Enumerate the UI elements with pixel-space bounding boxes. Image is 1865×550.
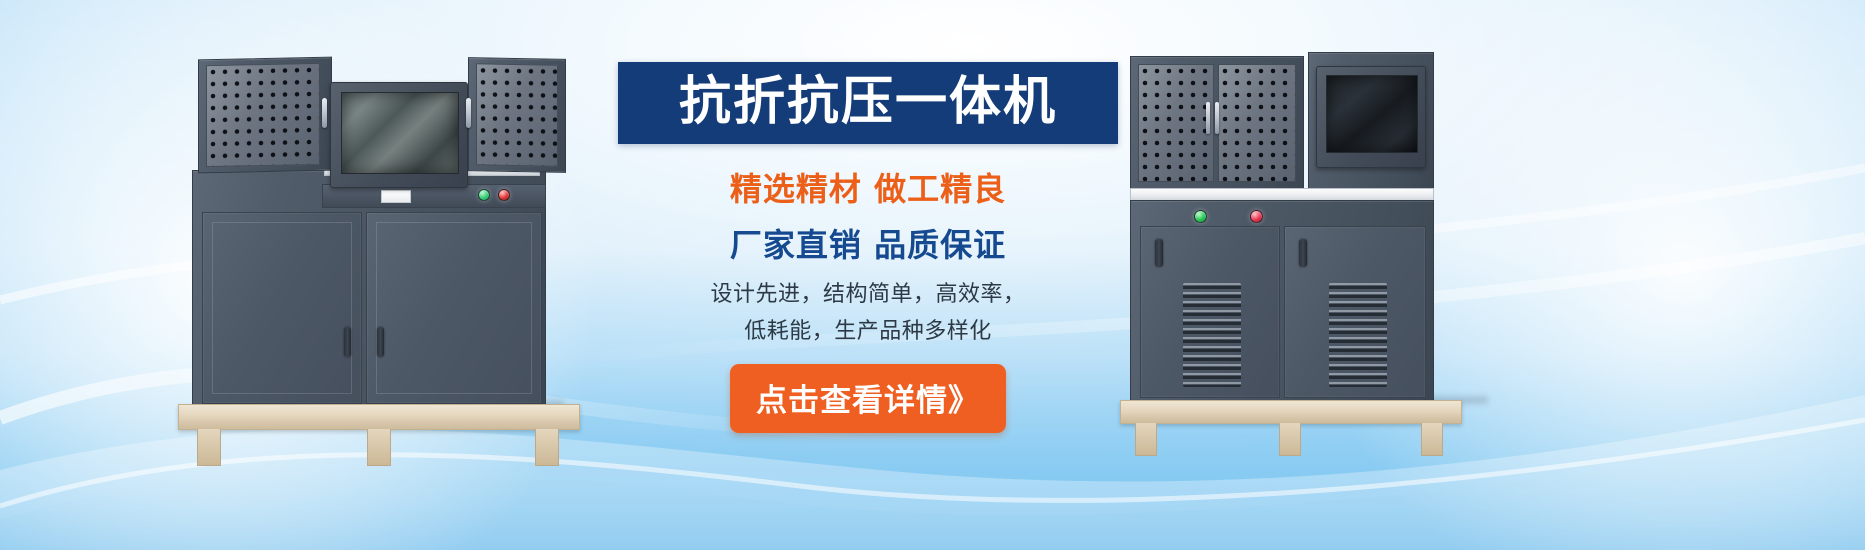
left-machine-handle-left xyxy=(344,327,351,357)
left-machine-red-indicator xyxy=(498,189,510,201)
left-machine-side-handle-right xyxy=(466,98,471,128)
right-machine-green-indicator xyxy=(1194,210,1207,223)
right-machine-monitor xyxy=(1316,66,1426,168)
right-machine-perforated-door-right xyxy=(1218,64,1296,182)
pallet-leg xyxy=(197,429,221,466)
right-machine-vent-left xyxy=(1183,283,1241,387)
door-inset-line xyxy=(376,222,532,394)
right-machine-upper-handle-right xyxy=(1215,102,1219,134)
page-title: 抗折抗压一体机 xyxy=(618,62,1118,144)
cta-wrapper: 点击查看详情》 xyxy=(618,364,1118,433)
right-machine-photo xyxy=(1118,44,1518,444)
left-machine-photo xyxy=(170,44,590,444)
left-machine-side-handle-left xyxy=(322,98,327,128)
description-line-1: 设计先进，结构简单，高效率， xyxy=(618,278,1118,311)
right-machine-handle-right xyxy=(1299,239,1307,267)
left-machine-perforated-panel-left xyxy=(206,63,320,167)
left-machine-handle-right xyxy=(377,327,384,357)
tagline-primary: 精选精材 做工精良 xyxy=(618,164,1118,210)
tagline-secondary: 厂家直销 品质保证 xyxy=(618,220,1118,266)
door-inset-line xyxy=(212,222,352,394)
pallet-leg xyxy=(1135,423,1157,456)
right-machine-upper-handle-left xyxy=(1206,102,1210,134)
promo-banner: 抗折抗压一体机 精选精材 做工精良 厂家直销 品质保证 设计先进，结构简单，高效… xyxy=(0,0,1865,550)
right-machine-pallet xyxy=(1120,400,1462,424)
left-machine-monitor xyxy=(330,82,468,188)
right-machine-door-left xyxy=(1140,226,1280,398)
description-line-2: 低耗能，生产品种多样化 xyxy=(618,315,1118,348)
left-machine-monitor-screen xyxy=(341,92,459,174)
left-machine-perforated-panel-right xyxy=(476,63,558,166)
left-machine-door-right xyxy=(366,212,542,404)
pallet-leg xyxy=(367,429,391,466)
right-machine-red-indicator xyxy=(1250,210,1263,223)
pallet-leg xyxy=(535,429,559,466)
right-machine-handle-left xyxy=(1155,239,1163,267)
pallet-leg xyxy=(1279,423,1301,456)
right-machine-monitor-screen xyxy=(1326,75,1418,153)
right-machine-vent-right xyxy=(1329,283,1387,387)
left-machine-green-indicator xyxy=(478,189,490,201)
promo-copy-block: 抗折抗压一体机 精选精材 做工精良 厂家直销 品质保证 设计先进，结构简单，高效… xyxy=(618,62,1118,433)
right-machine-perforated-door-left xyxy=(1138,64,1214,182)
pallet-leg xyxy=(1421,423,1443,456)
view-details-button[interactable]: 点击查看详情》 xyxy=(730,364,1006,433)
right-machine-door-right xyxy=(1284,226,1426,398)
left-machine-label-plate xyxy=(381,190,411,203)
left-machine-pallet xyxy=(178,404,580,430)
left-machine-door-left xyxy=(202,212,362,404)
